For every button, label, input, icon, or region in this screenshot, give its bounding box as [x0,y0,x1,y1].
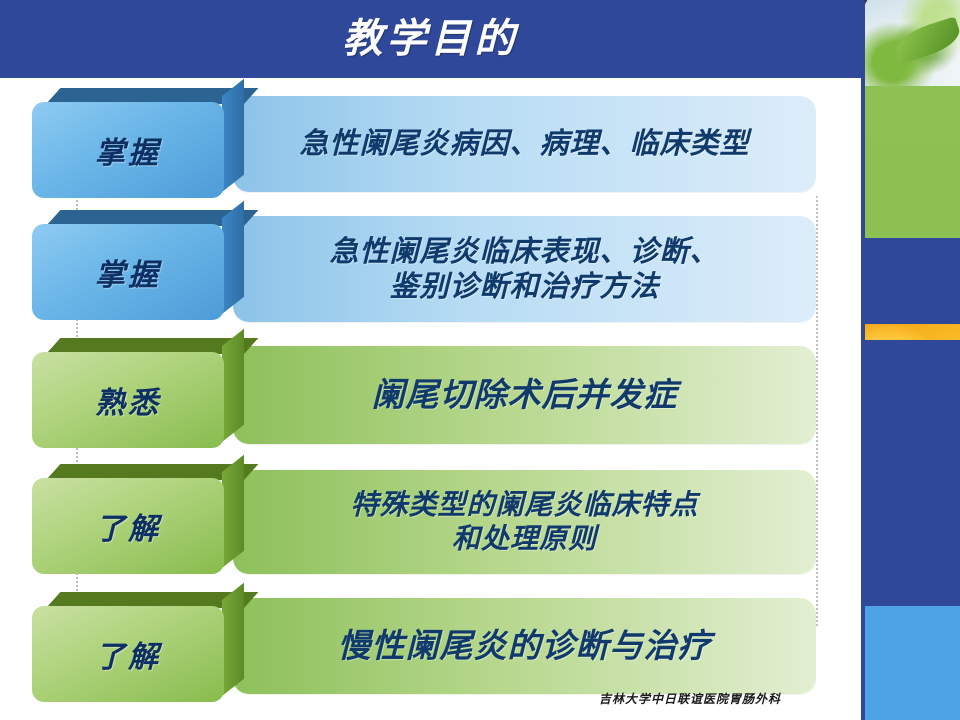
green-block [865,86,960,238]
block-side-face [222,201,244,314]
objective-text-bar: 阑尾切除术后并发症 [233,346,816,444]
decorative-photo-strip [861,0,960,720]
objective-level-block[interactable]: 熟悉 [32,338,244,450]
block-front-face: 了解 [32,606,224,702]
objective-text-bar: 慢性阑尾炎的诊断与治疗 [233,598,816,694]
block-side-face [222,455,244,568]
block-front-face: 熟悉 [32,352,224,448]
blue-block [865,340,960,508]
objective-text-bar: 急性阑尾炎病因、病理、临床类型 [233,96,816,192]
objective-level-label: 掌握 [95,250,161,294]
footer-affiliation: 吉林大学中日联谊医院胃肠外科 [560,690,820,707]
objective-text: 急性阑尾炎临床表现、诊断、 鉴别诊断和治疗方法 [329,234,719,305]
objective-level-label: 掌握 [95,128,161,172]
connector-line-right [816,196,818,626]
objective-text-bar: 急性阑尾炎临床表现、诊断、 鉴别诊断和治疗方法 [233,216,816,322]
objective-level-label: 熟悉 [95,378,161,422]
block-front-face: 了解 [32,478,224,574]
block-front-face: 掌握 [32,102,224,198]
objective-text: 特殊类型的阑尾炎临床特点 和处理原则 [350,488,698,556]
objective-text: 慢性阑尾炎的诊断与治疗 [338,626,712,666]
objective-level-label: 了解 [95,632,161,676]
objective-level-block[interactable]: 掌握 [32,88,244,200]
objective-level-block[interactable]: 了解 [32,592,244,704]
block-side-face [222,583,244,696]
leaf-photo-icon [865,0,960,86]
light-blue-block [865,606,960,720]
block-side-face [222,79,244,192]
objective-text: 急性阑尾炎病因、病理、临床类型 [299,126,749,161]
objective-level-block[interactable]: 掌握 [32,210,244,322]
title-banner: 教学目的 [0,0,861,78]
objective-text: 阑尾切除术后并发症 [372,375,678,415]
objective-level-block[interactable]: 了解 [32,464,244,576]
block-front-face: 掌握 [32,224,224,320]
page-title: 教学目的 [0,6,861,64]
objective-text-bar: 特殊类型的阑尾炎临床特点 和处理原则 [233,470,816,574]
slide-canvas: 教学目的 急性阑尾炎病因、病理、临床类型 掌握 急性阑尾炎临床表现、诊断、 鉴别… [0,0,960,720]
objective-level-label: 了解 [95,504,161,548]
block-side-face [222,329,244,442]
